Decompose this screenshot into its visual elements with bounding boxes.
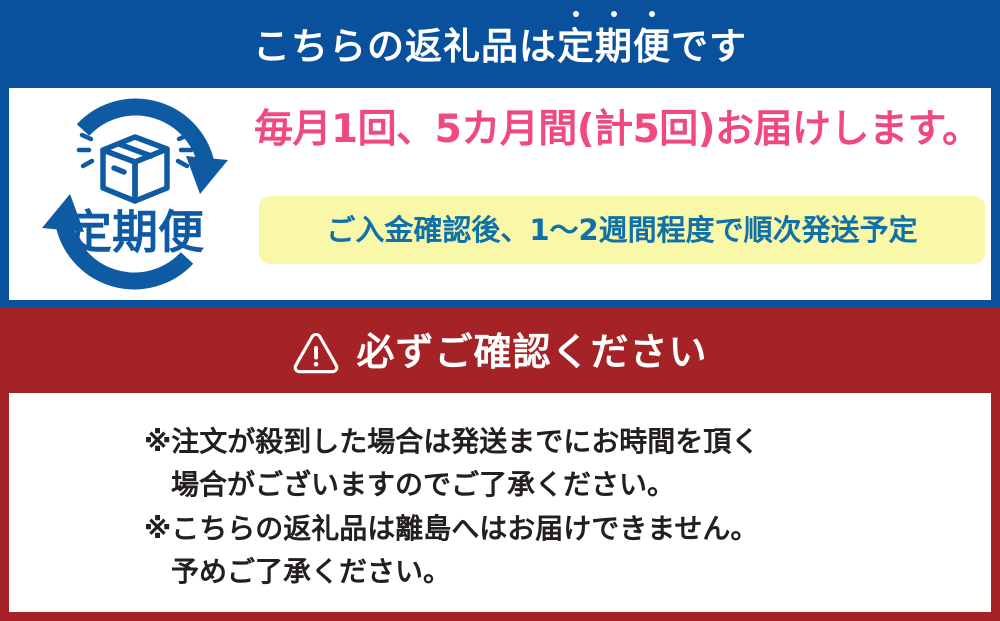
subscription-header-prefix: こちらの返礼品は — [253, 25, 557, 68]
warning-note-list: ※注文が殺到した場合は発送までにお時間を頂く 場合がございますのでご了承ください… — [9, 421, 991, 593]
subscription-header-text: こちらの返礼品は定期便です — [253, 28, 747, 65]
promo-banner: こちらの返礼品は定期便です — [0, 0, 1000, 621]
subscription-panel: 定期便 毎月1回、5カ月間(計5回)お届けします。 ご入金確認後、1〜2週間程度… — [9, 88, 991, 300]
warning-note: ※注文が殺到した場合は発送までにお時間を頂く 場合がございますのでご了承ください… — [9, 421, 991, 506]
warning-note: ※こちらの返礼品は離島へはお届けできません。 予めご了承ください。 — [9, 508, 991, 593]
subscription-text-block: 毎月1回、5カ月間(計5回)お届けします。 ご入金確認後、1〜2週間程度で順次発… — [252, 88, 987, 300]
cycle-delivery-icon: 定期便 — [36, 96, 234, 292]
subscription-header-emphasis: 定期便 — [557, 25, 671, 68]
shipping-highlight-text: ご入金確認後、1〜2週間程度で順次発送予定 — [326, 216, 917, 245]
warning-panel: ※注文が殺到した場合は発送までにお時間を頂く 場合がございますのでご了承ください… — [9, 393, 991, 612]
cycle-icon-label: 定期便 — [66, 205, 205, 259]
subscription-section: こちらの返礼品は定期便です — [0, 0, 1000, 307]
subscription-header-suffix: です — [671, 25, 747, 68]
warning-header-text: 必ずご確認ください — [356, 333, 707, 371]
warning-triangle-icon — [292, 330, 340, 375]
warning-header-bar: 必ずご確認ください — [0, 307, 1000, 393]
emphasis-dots — [557, 11, 671, 17]
subscription-header-emphasis-wrap: 定期便 — [557, 28, 671, 65]
subscription-headline: 毎月1回、5カ月間(計5回)お届けします。 — [254, 110, 981, 149]
subscription-header-bar: こちらの返礼品は定期便です — [0, 0, 1000, 84]
warning-section: 必ずご確認ください ※注文が殺到した場合は発送までにお時間を頂く 場合がございま… — [0, 307, 1000, 621]
shipping-highlight-box: ご入金確認後、1〜2週間程度で順次発送予定 — [259, 196, 985, 264]
